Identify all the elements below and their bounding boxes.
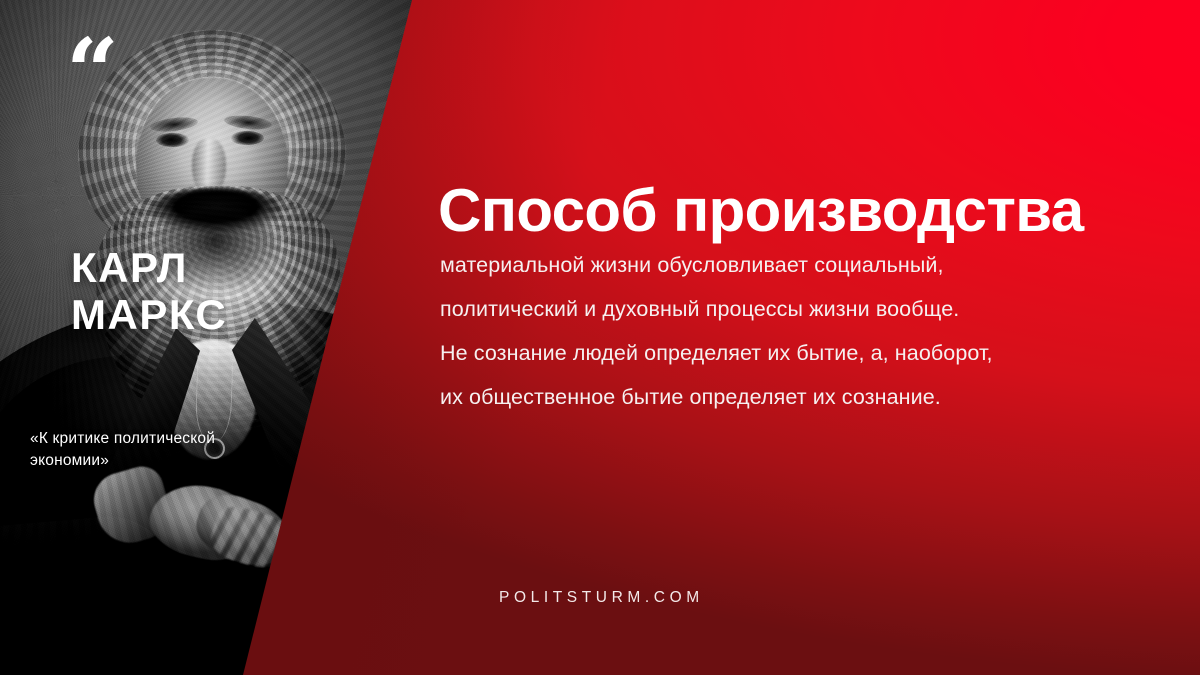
source-work-title: «К критике политической экономии» — [30, 428, 298, 473]
site-watermark: POLITSTURM.COM — [499, 589, 704, 607]
quote-body-line-4: их общественное бытие определяет их созн… — [440, 375, 1130, 419]
quote-body-line-3: Не сознание людей определяет их бытие, а… — [440, 331, 1130, 375]
quote-headline: Способ производства — [438, 181, 1084, 241]
quote-body: материальной жизни обусловливает социаль… — [440, 243, 1130, 419]
quote-body-line-1: материальной жизни обусловливает социаль… — [440, 243, 1130, 287]
author-name-line-1: КАРЛ — [71, 244, 351, 291]
opening-quotation-mark-icon: “ — [66, 26, 117, 118]
author-name-line-2: МАРКС — [71, 291, 351, 338]
author-name: КАРЛ МАРКС — [71, 244, 351, 338]
quote-card: “ КАРЛ МАРКС «К критике политической эко… — [0, 0, 1200, 675]
quote-body-line-2: политический и духовный процессы жизни в… — [440, 287, 1130, 331]
